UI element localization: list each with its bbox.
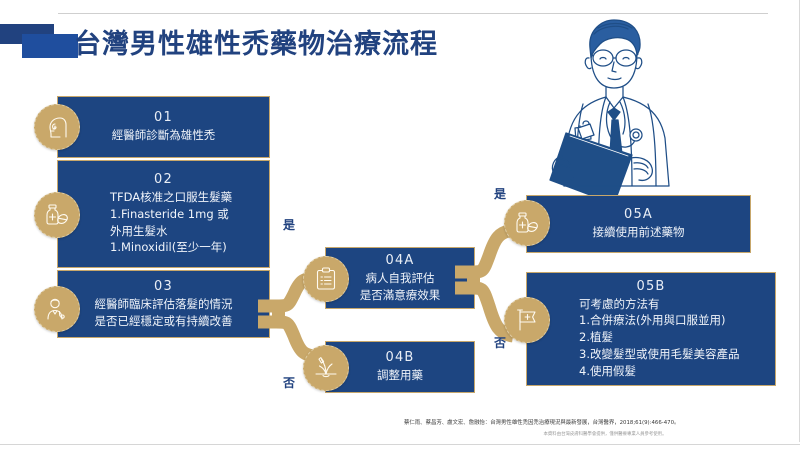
step-number-01: 01 — [58, 110, 269, 125]
doctor-illustration — [528, 8, 698, 203]
citation-line-2: 本資料由台灣皮膚科醫學會提供，僅供醫療專業人員參考使用。 — [440, 431, 770, 438]
hair-follicle-icon — [303, 345, 349, 391]
flow-step-03[interactable]: 03 經醫師臨床評估落髮的情況 是否已經穩定或有持續改善 — [57, 270, 270, 338]
step-text-03: 經醫師臨床評估落髮的情況 是否已經穩定或有持續改善 — [58, 296, 269, 329]
flag-icon — [504, 297, 550, 343]
flow-step-05a[interactable]: 05A 接續使用前述藥物 — [526, 195, 751, 253]
clipboard-checklist-icon — [303, 256, 349, 302]
branch-label-right-yes: 是 — [494, 185, 506, 202]
step-number-05a: 05A — [527, 207, 750, 222]
step-text-02: TFDA核准之口服生髮藥 1.Finasteride 1mg 或 外用生髮水 1… — [58, 189, 269, 256]
medicine-bottle-pill-icon — [34, 192, 80, 238]
step-number-03: 03 — [58, 279, 269, 294]
step-number-02: 02 — [58, 172, 269, 187]
head-scalp-icon — [34, 104, 80, 150]
medicine-bottle-pill-icon — [504, 200, 550, 246]
branch-label-left-no: 否 — [283, 374, 295, 391]
slide-bottom-border — [0, 444, 800, 445]
flow-step-05b[interactable]: 05B 可考慮的方法有 1.合併療法(外用與口服並用) 2.植髮 3.改變髮型或… — [526, 272, 776, 386]
branch-label-right-no: 否 — [494, 334, 506, 351]
slide-canvas: 台灣男性雄性禿藥物治療流程 — [0, 0, 800, 450]
title-decoration-lower — [22, 34, 78, 58]
step-number-05b: 05B — [527, 279, 775, 294]
page-title: 台灣男性雄性禿藥物治療流程 — [74, 22, 438, 61]
branch-label-left-yes: 是 — [283, 216, 295, 233]
step-text-05b: 可考慮的方法有 1.合併療法(外用與口服並用) 2.植髮 3.改變髮型或使用毛髮… — [527, 296, 775, 379]
doctor-icon — [34, 286, 80, 332]
flow-step-01[interactable]: 01 經醫師診斷為雄性禿 — [57, 96, 270, 158]
step-text-01: 經醫師診斷為雄性禿 — [58, 127, 269, 144]
step-text-05a: 接續使用前述藥物 — [527, 224, 750, 241]
step-number-04a: 04A — [326, 253, 474, 268]
citation-line-1: 蔡仁雨、蔡昌芳、盧文宏、詹融怡：台灣男性雄性禿因禿治療現況與最新發展，台灣醫界，… — [404, 418, 782, 428]
flow-step-02[interactable]: 02 TFDA核准之口服生髮藥 1.Finasteride 1mg 或 外用生髮… — [57, 160, 270, 268]
